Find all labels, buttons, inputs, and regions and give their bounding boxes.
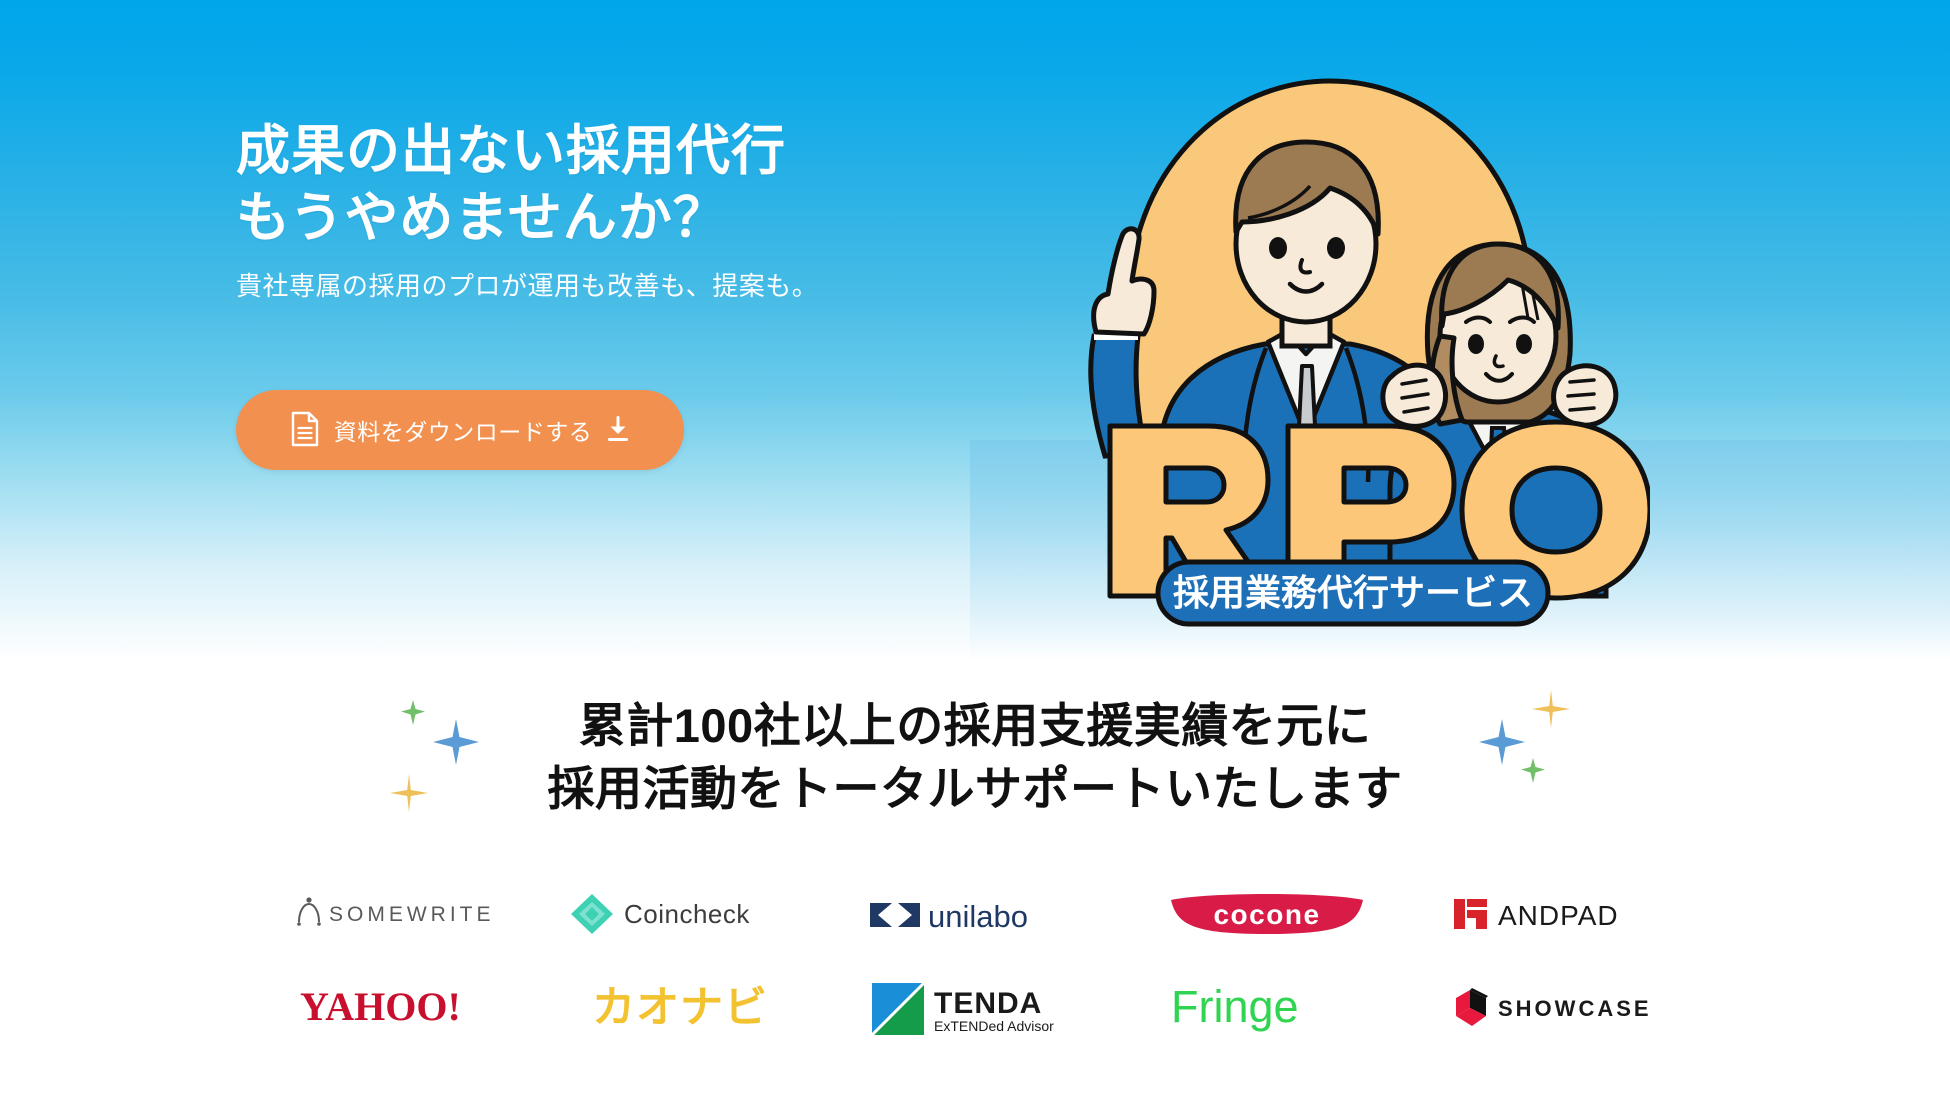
logo-somewrite[interactable]: SOMEWRITE [291,870,491,958]
andpad-mark [1454,899,1487,929]
page-title: 成果の出ない採用代行 もうやめませんか？ [236,118,996,252]
clients-section: 累計100社以上の採用支援実績を元に 採用活動をトータルサポートいたします SO… [0,660,1950,1102]
logo-kaonavi[interactable]: カオナビ [588,958,778,1058]
service-badge: 採用業務代行サービス [1158,562,1548,624]
logo-coincheck[interactable]: Coincheck [568,870,798,958]
clients-heading-line-1: 累計100社以上の採用支援実績を元に [0,695,1950,758]
logo-showcase[interactable]: SHOWCASE [1452,958,1667,1058]
clients-heading: 累計100社以上の採用支援実績を元に 採用活動をトータルサポートいたします [0,695,1950,821]
cocone-label: cocone [1213,899,1320,930]
tenda-label: TENDA [934,987,1042,1020]
logo-fringe[interactable]: Fringe [1167,958,1367,1058]
showcase-mark [1456,988,1488,1026]
logo-yahoo[interactable]: YAHOO! [296,958,486,1058]
hero-section: 成果の出ない採用代行 もうやめませんか？ 貴社専属の採用のプロが運用も改善も、提… [0,0,1950,660]
headline-line-2: もうやめませんか？ [236,185,996,252]
tenda-tagline: ExTENDed Advisor [934,1018,1054,1034]
somewrite-mark [297,897,321,925]
clients-heading-line-2: 採用活動をトータルサポートいたします [0,758,1950,821]
coincheck-mark [571,894,613,934]
tenda-mark [872,983,924,1035]
service-badge-label: 採用業務代行サービス [1173,572,1533,613]
yahoo-label: YAHOO! [300,984,461,1029]
female-left-fist [1383,365,1446,426]
landing-page: 成果の出ない採用代行 もうやめませんか？ 貴社専属の採用のプロが運用も改善も、提… [0,0,1950,1102]
somewrite-label: SOMEWRITE [329,903,491,926]
logo-cocone[interactable]: cocone [1167,870,1367,958]
rpo-illustration: 採用業務代行サービス [1010,36,1650,636]
logo-andpad[interactable]: ANDPAD [1452,870,1667,958]
logo-unilabo[interactable]: unilabo [868,870,1083,958]
unilabo-mark [870,903,920,927]
coincheck-label: Coincheck [624,899,750,929]
kaonavi-label: カオナビ [592,984,768,1032]
client-logo-grid: SOMEWRITE Coincheck [245,870,1705,1058]
document-icon [290,411,320,450]
hero-subtitle: 貴社専属の採用のプロが運用も改善も、提案も。 [236,266,996,303]
logo-tenda[interactable]: TENDA ExTENDed Advisor [870,958,1080,1058]
andpad-label: ANDPAD [1498,900,1619,931]
female-right-fist [1554,366,1616,425]
hero-copy: 成果の出ない採用代行 もうやめませんか？ 貴社専属の採用のプロが運用も改善も、提… [236,118,996,303]
unilabo-label: unilabo [928,899,1028,934]
showcase-label: SHOWCASE [1498,996,1652,1021]
download-icon [606,416,630,445]
download-materials-label: 資料をダウンロードする [334,413,593,447]
download-materials-button[interactable]: 資料をダウンロードする [236,390,684,470]
fringe-label: Fringe [1171,981,1299,1032]
headline-line-1: 成果の出ない採用代行 [236,118,996,185]
